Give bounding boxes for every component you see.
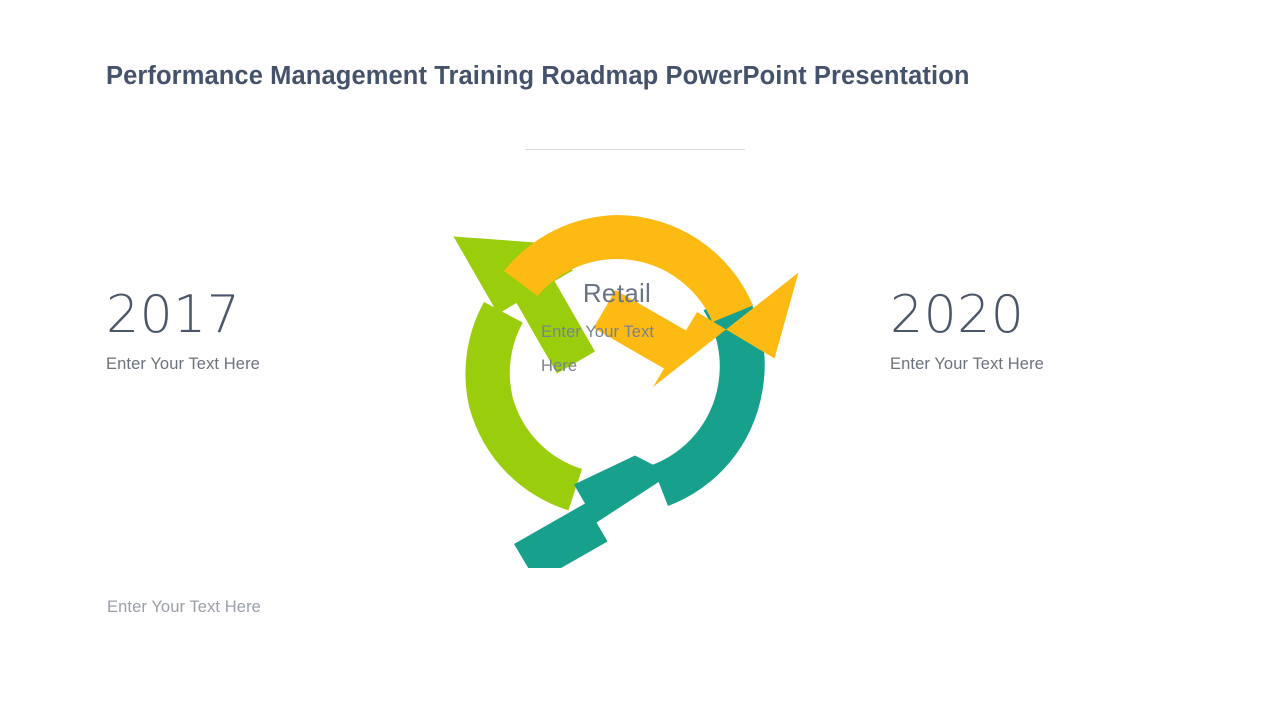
slide-canvas: Performance Management Training Roadmap … bbox=[0, 0, 1280, 720]
cycle-center-text: Retail Enter Your Text Here bbox=[541, 276, 693, 383]
milestone-left-caption: Enter Your Text Here bbox=[106, 353, 436, 375]
milestone-right-caption: Enter Your Text Here bbox=[890, 353, 1220, 375]
page-title: Performance Management Training Roadmap … bbox=[106, 58, 1196, 94]
title-divider bbox=[525, 149, 745, 150]
milestone-left-year: 2017 bbox=[106, 284, 436, 346]
cycle-center-caption: Enter Your Text Here bbox=[541, 315, 693, 383]
milestone-right: 2020 Enter Your Text Here bbox=[890, 284, 1220, 375]
cycle-center-heading: Retail bbox=[541, 276, 693, 310]
bottom-note-caption: Enter Your Text Here bbox=[107, 596, 261, 618]
milestone-left: 2017 Enter Your Text Here bbox=[106, 284, 436, 375]
milestone-right-year: 2020 bbox=[890, 284, 1220, 346]
